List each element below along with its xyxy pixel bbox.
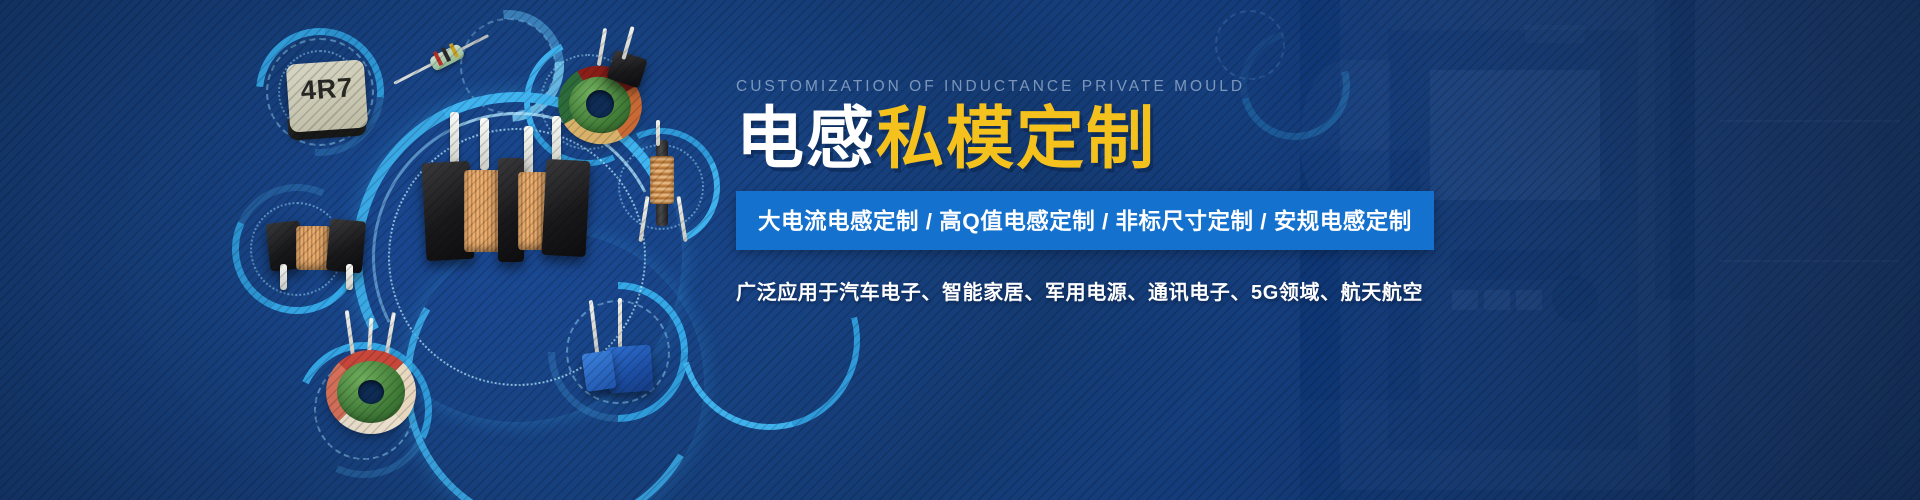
choke-pin <box>524 126 533 176</box>
capacitor-body <box>582 350 617 392</box>
component-axial-inductor <box>392 24 502 104</box>
component-green-toroid <box>316 310 428 440</box>
choke-pin <box>346 264 353 290</box>
component-lead <box>638 196 649 242</box>
rod-copper-coil <box>650 156 674 204</box>
banner-eyebrow: CUSTOMIZATION OF INDUCTANCE PRIVATE MOUL… <box>736 78 1396 96</box>
component-lead <box>589 300 600 354</box>
component-smd-inductor: 4R7 <box>288 62 368 142</box>
component-rod-choke <box>626 138 700 248</box>
component-lead <box>345 310 356 358</box>
choke-copper-winding <box>296 226 330 270</box>
component-blue-capacitor <box>578 300 664 410</box>
banner-headline: 电感私模定制 <box>736 104 1396 175</box>
component-lead <box>384 312 396 358</box>
choke-core-block <box>542 159 591 257</box>
smd-inductor-marking: 4R7 <box>287 71 367 107</box>
component-lead <box>656 120 660 146</box>
component-large-cm-choke <box>412 112 592 272</box>
component-common-mode-choke <box>266 206 376 286</box>
choke-copper-winding <box>464 170 502 252</box>
banner-tagline: 广泛应用于汽车电子、智能家居、军用电源、通讯电子、5G领域、航天航空 <box>736 276 1396 305</box>
toroid-hole <box>358 380 384 404</box>
choke-pin <box>280 264 287 290</box>
services-badge: 大电流电感定制 / 高Q值电感定制 / 非标尺寸定制 / 安规电感定制 <box>736 191 1434 250</box>
banner-text-block: CUSTOMIZATION OF INDUCTANCE PRIVATE MOUL… <box>736 78 1396 305</box>
promo-banner: 4R7 <box>0 0 1920 500</box>
component-lead <box>676 196 687 242</box>
choke-pin <box>480 118 489 170</box>
headline-white-part: 电感 <box>736 101 876 177</box>
headline-gold-part: 私模定制 <box>876 101 1156 177</box>
